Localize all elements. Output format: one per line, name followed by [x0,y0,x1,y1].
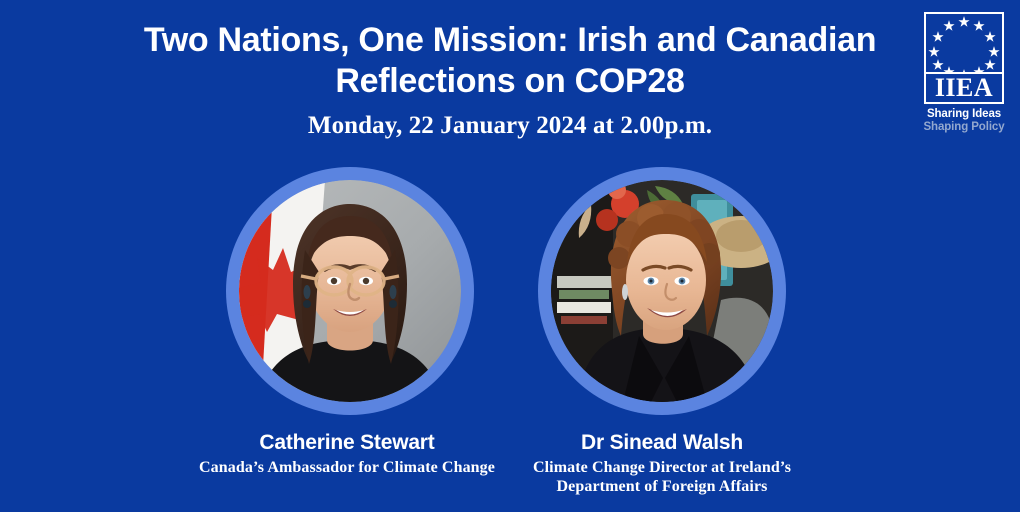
speaker-photo-catherine-stewart [226,167,474,415]
speaker-caption-catherine-stewart: Catherine Stewart Canada’s Ambassador fo… [182,430,512,477]
speaker-role: Canada’s Ambassador for Climate Change [182,458,512,477]
portrait-ring [226,167,474,415]
logo-tagline-shaping-policy: Shaping Policy [922,121,1006,134]
eu-stars-icon [924,12,1004,74]
speaker-name: Dr Sinead Walsh [497,430,827,455]
speaker-name: Catherine Stewart [182,430,512,455]
iiea-wordmark: IIEA [924,74,1004,104]
title-block: Two Nations, One Mission: Irish and Cana… [0,20,1020,141]
portrait-photo-sinead-walsh [551,180,773,402]
speaker-caption-sinead-walsh: Dr Sinead Walsh Climate Change Director … [497,430,827,496]
event-promo-poster: Two Nations, One Mission: Irish and Cana… [0,0,1020,512]
portrait-photo-catherine-stewart [239,180,461,402]
speaker-photo-sinead-walsh [538,167,786,415]
event-date: Monday, 22 January 2024 at 2.00p.m. [0,111,1020,141]
page-title: Two Nations, One Mission: Irish and Cana… [0,20,1020,102]
iiea-logo[interactable]: IIEA Sharing Ideas Shaping Policy [922,12,1006,134]
logo-tagline-sharing-ideas: Sharing Ideas [922,108,1006,121]
speaker-role: Climate Change Director at Ireland’s Dep… [497,458,827,496]
portrait-ring [538,167,786,415]
